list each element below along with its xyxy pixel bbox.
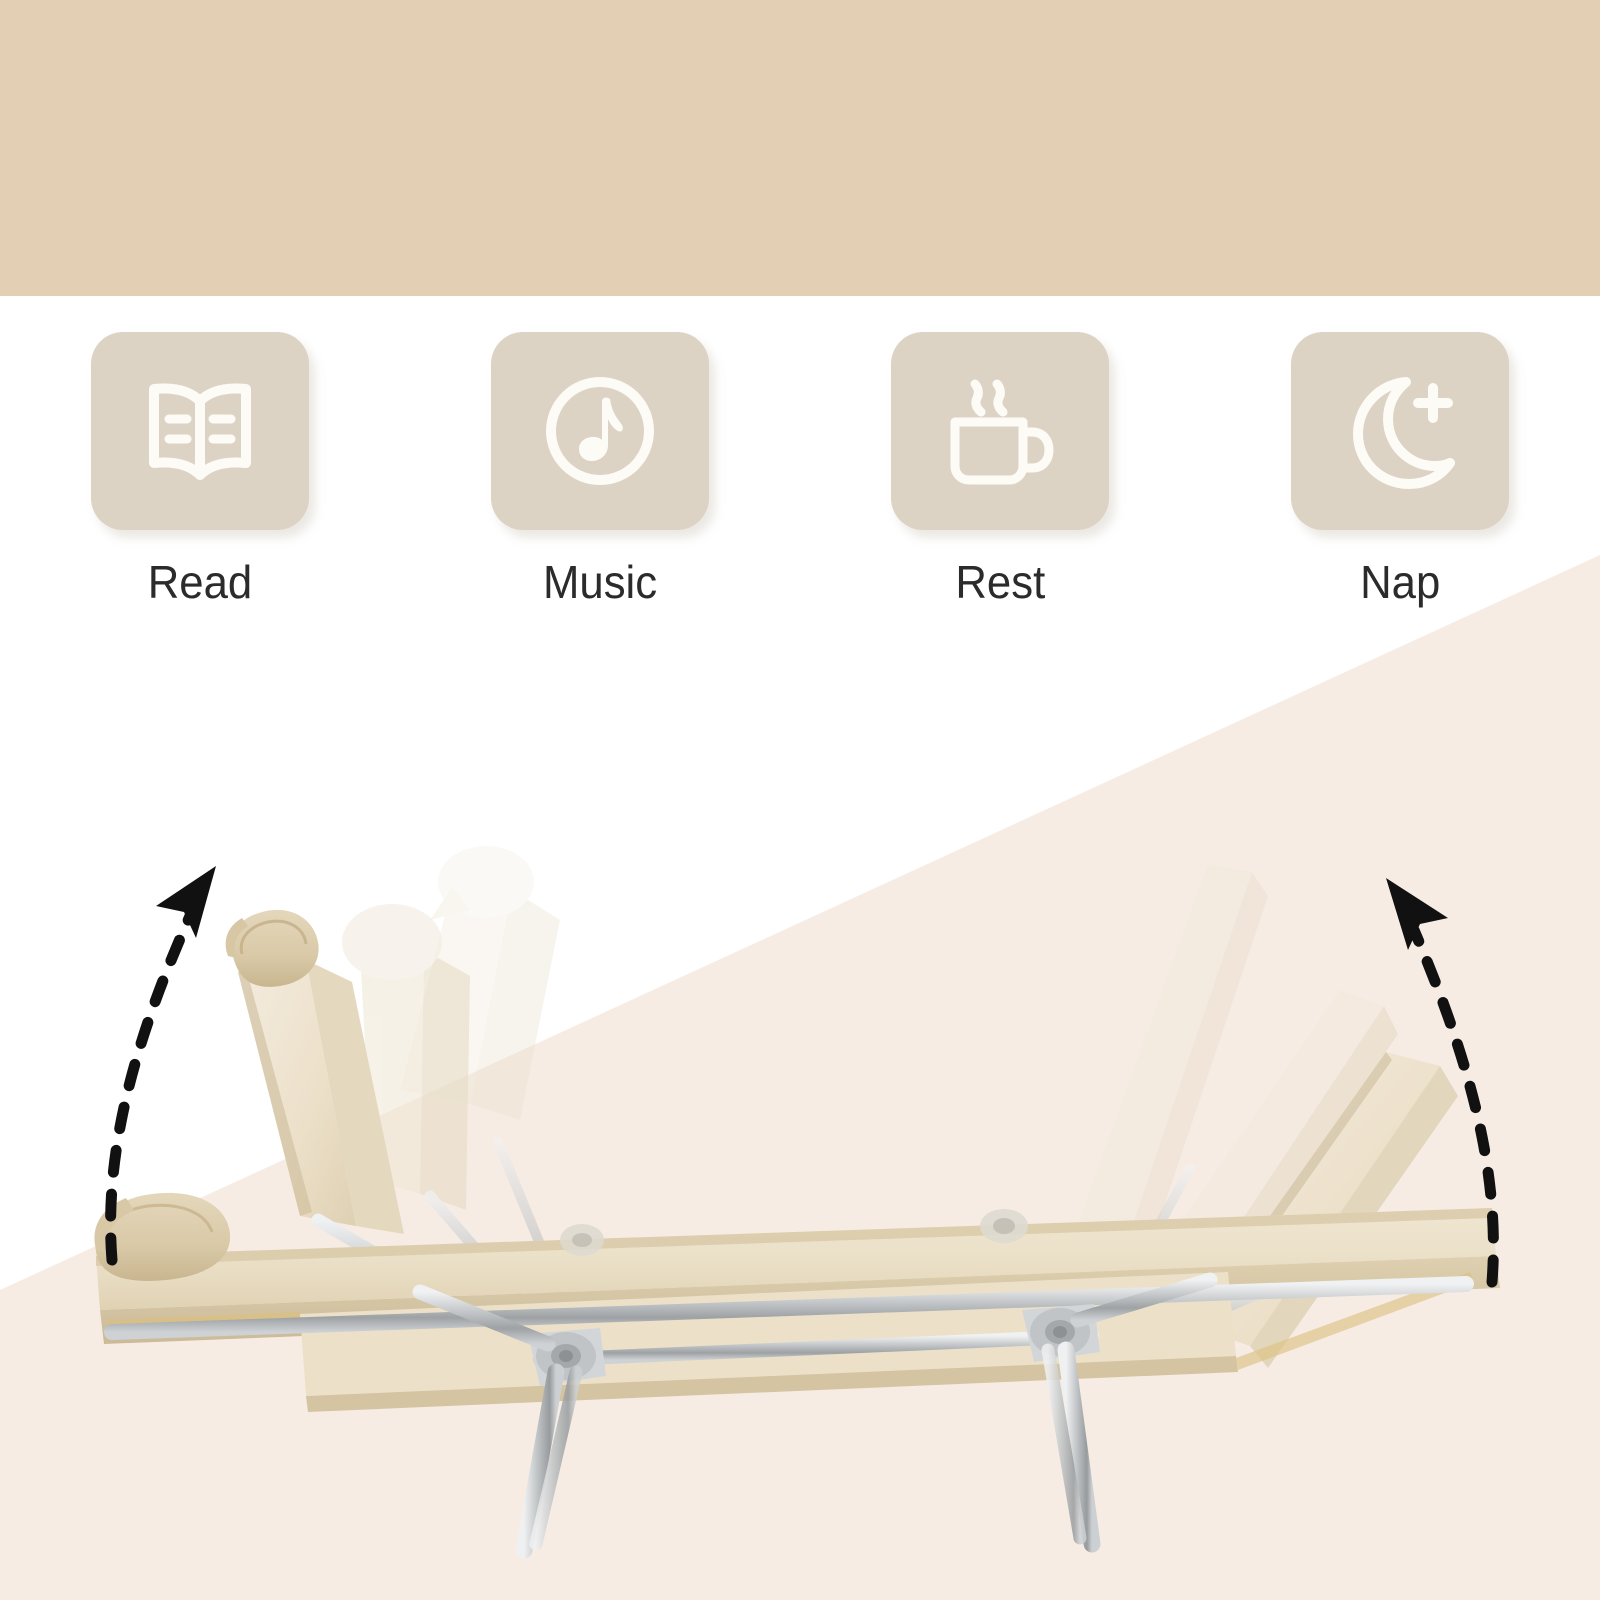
pivot-hub-upper-right — [980, 1209, 1028, 1243]
feature-label-nap: Nap — [1360, 556, 1440, 608]
feature-label-music: Music — [543, 556, 657, 608]
header-band — [0, 0, 1600, 296]
feature-label-read: Read — [148, 556, 252, 608]
feature-tile-music[interactable] — [491, 332, 709, 530]
open-book-icon — [136, 375, 264, 487]
feature-tile-nap[interactable] — [1291, 332, 1509, 530]
infographic-page: ADJUSTABLE BACKREST 5-level adjustable b… — [0, 0, 1600, 1600]
music-note-circle-icon — [538, 369, 662, 493]
coffee-mug-steam-icon — [935, 370, 1065, 492]
feature-list: Read Music — [0, 332, 1600, 612]
feature-tile-read[interactable] — [91, 332, 309, 530]
feature-item-nap[interactable]: Nap — [1200, 332, 1600, 612]
feature-item-read[interactable]: Read — [0, 332, 400, 612]
crescent-moon-plus-icon — [1336, 370, 1464, 492]
feature-item-rest[interactable]: Rest — [800, 332, 1200, 612]
feature-label-rest: Rest — [955, 556, 1045, 608]
feature-item-music[interactable]: Music — [400, 332, 800, 612]
product-image — [0, 620, 1600, 1600]
feature-tile-rest[interactable] — [891, 332, 1109, 530]
pivot-hub-upper-left — [560, 1224, 604, 1256]
